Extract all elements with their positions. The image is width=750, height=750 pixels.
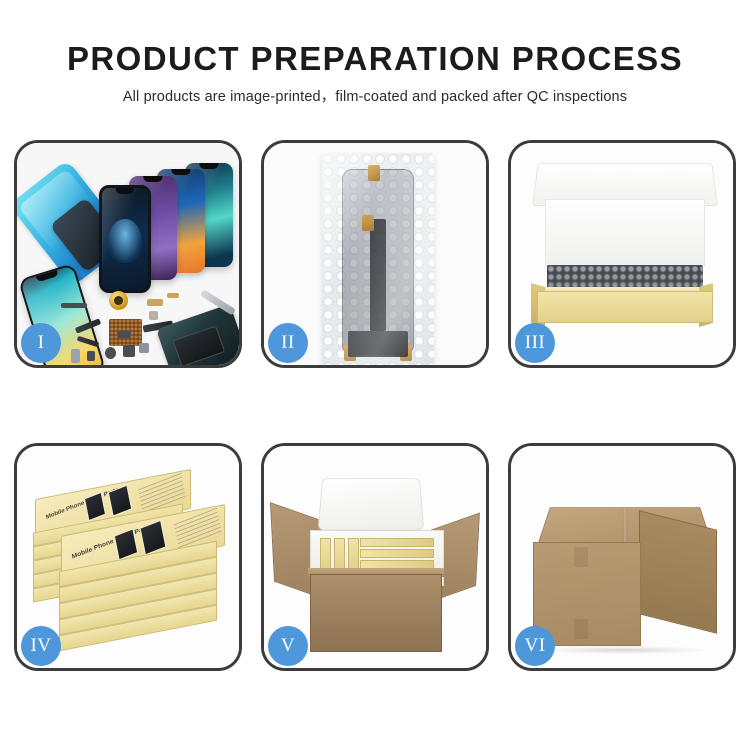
phone-notch-icon (143, 176, 162, 182)
process-step-panel-5[interactable]: V (261, 443, 489, 671)
process-step-grid: I II (14, 140, 736, 671)
page-subtitle: All products are image-printed，film-coat… (0, 87, 750, 107)
box-stack-icon: Mobile Phone Spare Parts Mobile Phone Sp… (27, 468, 235, 660)
step-badge-4: IV (21, 626, 61, 666)
step-badge-6: VI (515, 626, 555, 666)
packed-box-icon (360, 538, 434, 547)
page-title: PRODUCT PREPARATION PROCESS (0, 38, 750, 80)
phone-black-screen-icon (99, 185, 151, 293)
screw-icon (149, 311, 158, 320)
phone-notch-icon (199, 163, 218, 169)
process-step-panel-1[interactable]: I (14, 140, 242, 368)
process-step-panel-2[interactable]: II (261, 140, 489, 368)
carton-side-face-icon (639, 510, 717, 633)
carton-seam-icon (574, 547, 588, 567)
carton-shadow (541, 646, 707, 654)
step-badge-2: II (268, 323, 308, 363)
small-part-icon (87, 351, 95, 361)
speaker-part-icon (105, 347, 116, 359)
component-gold-small-icon (167, 293, 179, 298)
step-badge-1: I (21, 323, 61, 363)
small-part-icon (71, 349, 80, 363)
phone-notch-icon (116, 188, 134, 194)
wallpaper-graphic-icon (108, 219, 142, 263)
small-part-icon (117, 331, 131, 338)
box-front-icon (537, 291, 713, 323)
camera-module-icon (123, 345, 135, 357)
process-step-panel-4[interactable]: Mobile Phone Spare Parts Mobile Phone Sp… (14, 443, 242, 671)
carton-body-icon (310, 574, 442, 652)
product-preparation-infographic: PRODUCT PREPARATION PROCESS All products… (0, 0, 750, 750)
bubble-wrap-icon (322, 153, 434, 365)
carton-front-face-icon (533, 542, 641, 646)
battery-icon (173, 325, 226, 365)
carton-seam-icon (574, 619, 588, 639)
foam-sheet-icon (545, 199, 705, 267)
header: PRODUCT PREPARATION PROCESS All products… (0, 38, 750, 107)
packed-box-icon (360, 549, 434, 558)
speaker-coil-icon (109, 291, 128, 310)
packing-tape-icon (623, 508, 628, 546)
small-part-icon (139, 343, 149, 353)
box-artwork-thumb (108, 485, 133, 517)
component-bar-icon (61, 303, 87, 308)
process-step-panel-3[interactable]: III (508, 140, 736, 368)
step-badge-5: V (268, 626, 308, 666)
component-gold-icon (147, 299, 163, 306)
step-badge-3: III (515, 323, 555, 363)
plastic-sheen-icon (322, 153, 434, 365)
phone-notch-icon (171, 169, 190, 175)
styrofoam-lid-icon (318, 478, 425, 530)
process-step-panel-6[interactable]: VI (508, 443, 736, 671)
